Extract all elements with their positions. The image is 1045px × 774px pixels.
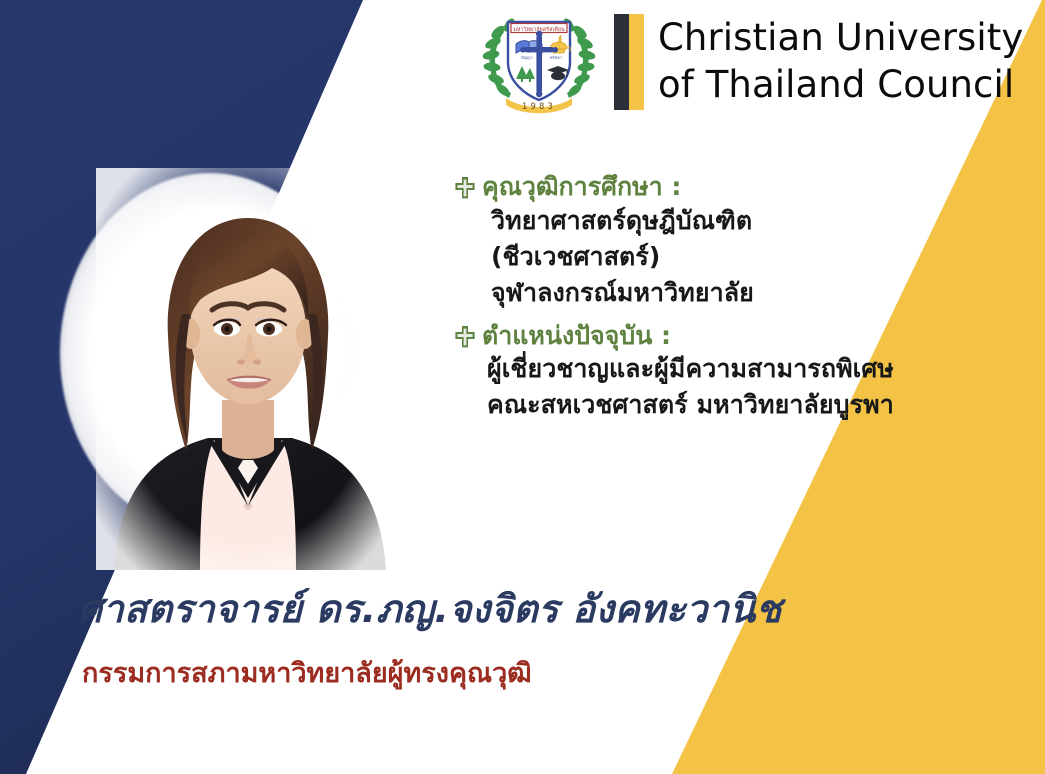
- header-title: Christian University of Thailand Council: [658, 15, 1023, 108]
- green-cross-icon: [455, 177, 475, 199]
- svg-text:ปัญญา: ปัญญา: [521, 55, 533, 60]
- svg-text:ศรัทธา: ศรัทธา: [550, 55, 562, 60]
- info-heading-row: ตำแหน่งปัจจุบัน :: [455, 321, 975, 352]
- education-line-1: วิทยาศาสตร์ดุษฎีบัณฑิต: [455, 203, 975, 239]
- position-line-1: ผู้เชี่ยวชาญและผู้มีความสามารถพิเศษ: [455, 351, 975, 387]
- portrait: [60, 168, 400, 568]
- info-group-position: ตำแหน่งปัจจุบัน : ผู้เชี่ยวชาญและผู้มีคว…: [455, 321, 975, 424]
- info-group-education: คุณวุฒิการศึกษา : วิทยาศาสตร์ดุษฎีบัณฑิต…: [455, 172, 975, 311]
- profile-card: มหาวิทยาลัยคริสเตียน: [0, 0, 1045, 774]
- position-heading: ตำแหน่งปัจจุบัน :: [482, 321, 671, 352]
- education-line-2: (ชีวเวชศาสตร์): [455, 239, 975, 275]
- education-heading: คุณวุฒิการศึกษา :: [482, 172, 681, 203]
- info-heading-row: คุณวุฒิการศึกษา :: [455, 172, 975, 203]
- university-crest-logo: มหาวิทยาลัยคริสเตียน: [478, 6, 600, 118]
- info-block: คุณวุฒิการศึกษา : วิทยาศาสตร์ดุษฎีบัณฑิต…: [455, 172, 975, 433]
- header: มหาวิทยาลัยคริสเตียน: [478, 6, 1023, 118]
- green-cross-icon: [455, 326, 475, 348]
- person-name: ศาสตราจารย์ ดร.ภญ.จงจิตร อังคทะวานิช: [78, 589, 978, 631]
- logo-year: 1983: [522, 101, 556, 111]
- education-line-3: จุฬาลงกรณ์มหาวิทยาลัย: [455, 275, 975, 311]
- divider-dark-half: [614, 14, 629, 110]
- person-role: กรรมการสภามหาวิทยาลัยผู้ทรงคุณวุฒิ: [82, 659, 982, 689]
- portrait-photo: [96, 168, 396, 570]
- position-line-2: คณะสหเวชศาสตร์ มหาวิทยาลัยบูรพา: [455, 387, 975, 423]
- header-divider-bar: [614, 14, 644, 110]
- divider-yellow-half: [629, 14, 644, 110]
